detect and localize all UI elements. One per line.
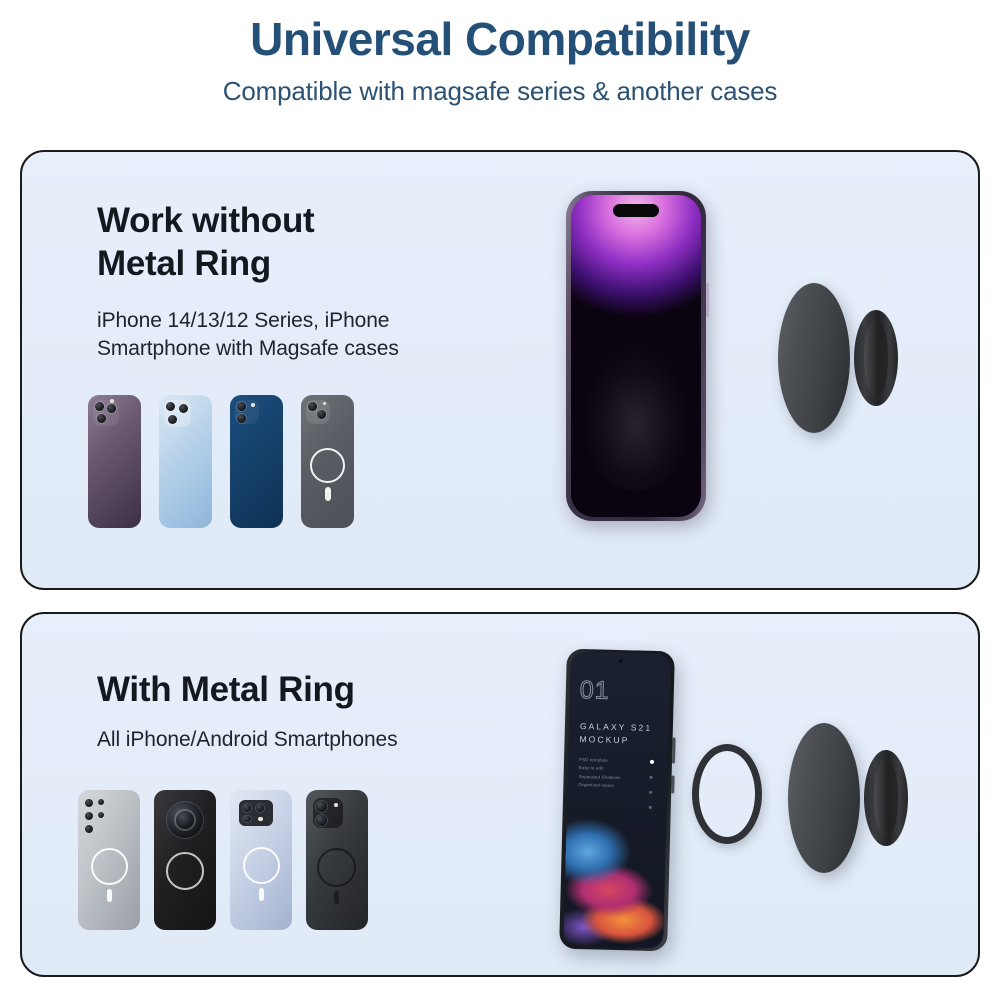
thumb-iphone-black-case — [306, 790, 368, 930]
galaxy-volume-button — [671, 775, 674, 793]
galaxy-screen-number: 01 — [580, 678, 610, 704]
galaxy-screen-title: GALAXY S21 MOCKUP — [579, 720, 652, 748]
panel-2-heading: With Metal Ring — [97, 669, 398, 712]
thumb-huawei-circular-camera — [154, 790, 216, 930]
front-camera-punch-hole — [619, 659, 623, 663]
page-title: Universal Compatibility — [0, 0, 1000, 62]
grip-disc — [778, 283, 850, 433]
panel-2-description: All iPhone/Android Smartphones — [97, 726, 398, 753]
hero-galaxy-s21: 01 GALAXY S21 MOCKUP PSD template Easy t… — [559, 649, 675, 952]
iphone-screen — [571, 195, 701, 517]
panel-1-heading: Work without Metal Ring — [97, 200, 399, 285]
galaxy-screen-body: PSD template Easy to edit Separated Shad… — [578, 756, 621, 791]
panel-1-text-block: Work without Metal Ring iPhone 14/13/12 … — [97, 200, 399, 362]
thumb-iphone-sierra-blue — [159, 395, 212, 528]
panel-1-thumbnail-row — [88, 395, 354, 528]
grip-disc — [788, 723, 860, 873]
thumb-samsung-galaxy-ultra — [78, 790, 140, 930]
panel-2-thumbnail-row — [78, 790, 368, 930]
magsafe-ring-icon — [91, 848, 128, 885]
magsafe-ring-icon — [243, 847, 280, 884]
dynamic-island — [613, 204, 659, 217]
magsafe-pill-icon — [259, 888, 264, 901]
phone-grip-holder-2 — [788, 718, 908, 878]
galaxy-wallpaper-art — [563, 810, 667, 948]
hero-iphone-14-pro — [566, 191, 706, 521]
iphone-side-button — [706, 283, 709, 317]
infographic-page: Universal Compatibility Compatible with … — [0, 0, 1000, 1000]
galaxy-screen: 01 GALAXY S21 MOCKUP PSD template Easy t… — [563, 652, 671, 949]
grip-base — [854, 310, 898, 406]
panel-1-description: iPhone 14/13/12 Series, iPhone Smartphon… — [97, 307, 399, 362]
thumb-iphone-clear-case-magsafe — [301, 395, 354, 528]
thumb-iphone-dark-blue — [230, 395, 283, 528]
header: Universal Compatibility Compatible with … — [0, 0, 1000, 107]
magnetic-metal-ring — [692, 744, 762, 844]
phone-grip-holder-1 — [778, 278, 898, 438]
metal-ring-icon — [166, 852, 204, 890]
magsafe-pill-icon — [325, 487, 331, 501]
magsafe-pill-icon — [334, 891, 339, 904]
panel-2-text-block: With Metal Ring All iPhone/Android Smart… — [97, 669, 398, 753]
thumb-iphone-deep-purple — [88, 395, 141, 528]
page-subtitle: Compatible with magsafe series & another… — [0, 76, 1000, 107]
thumb-phone-lavender — [230, 790, 292, 930]
magsafe-ring-icon — [317, 848, 356, 887]
magsafe-ring-icon — [310, 448, 345, 483]
grip-base — [864, 750, 908, 846]
magsafe-pill-icon — [107, 889, 112, 902]
